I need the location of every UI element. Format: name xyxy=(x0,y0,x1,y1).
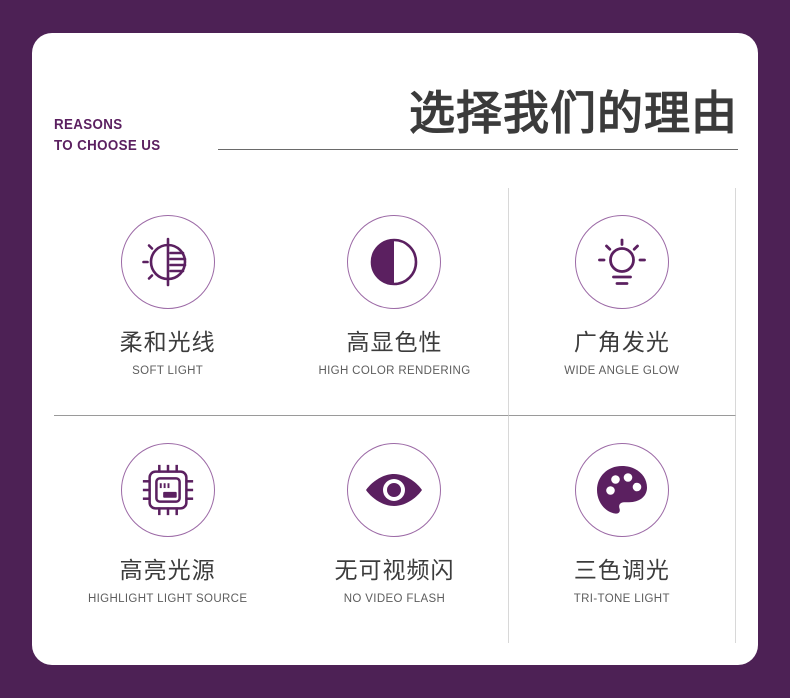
feature-label-en: HIGH COLOR RENDERING xyxy=(318,365,470,377)
feature-label-en: HIGHLIGHT LIGHT SOURCE xyxy=(88,593,247,605)
header: REASONS TO CHOOSE US 选择我们的理由 xyxy=(32,33,758,178)
feature-label-cn: 无可视频闪 xyxy=(334,559,454,584)
feature-label-cn: 广角发光 xyxy=(574,331,670,356)
eye-icon xyxy=(347,443,441,537)
soft-light-icon xyxy=(121,215,215,309)
feature-cell-soft-light: 柔和光线 SOFT LIGHT xyxy=(54,188,281,416)
feature-grid: 柔和光线 SOFT LIGHT 高显色性 HIGH COLOR RENDERIN… xyxy=(54,188,736,643)
feature-cell-high-color-rendering: 高显色性 HIGH COLOR RENDERING xyxy=(281,188,508,416)
feature-label-en: TRI-TONE LIGHT xyxy=(574,593,670,605)
content-card: REASONS TO CHOOSE US 选择我们的理由 xyxy=(32,33,758,665)
eyebrow-line-2: TO CHOOSE US xyxy=(54,136,160,157)
feature-label-en: WIDE ANGLE GLOW xyxy=(564,365,679,377)
poster-root: REASONS TO CHOOSE US 选择我们的理由 xyxy=(0,0,790,698)
page-title: 选择我们的理由 xyxy=(218,88,738,140)
feature-label-cn: 柔和光线 xyxy=(120,331,216,356)
feature-label-cn: 高亮光源 xyxy=(120,559,216,584)
palette-icon xyxy=(575,443,669,537)
feature-cell-tri-tone-light: 三色调光 TRI-TONE LIGHT xyxy=(509,416,736,644)
feature-label-cn: 高显色性 xyxy=(346,331,442,356)
chip-icon xyxy=(121,443,215,537)
header-eyebrow: REASONS TO CHOOSE US xyxy=(54,115,160,157)
feature-cell-highlight-light-source: 高亮光源 HIGHLIGHT LIGHT SOURCE xyxy=(54,416,281,644)
header-title-block: 选择我们的理由 xyxy=(218,88,738,150)
color-rendering-half-circle-icon xyxy=(347,215,441,309)
feature-cell-wide-angle-glow: 广角发光 WIDE ANGLE GLOW xyxy=(509,188,736,416)
feature-label-en: SOFT LIGHT xyxy=(132,365,203,377)
feature-cell-no-video-flash: 无可视频闪 NO VIDEO FLASH xyxy=(281,416,508,644)
eyebrow-line-1: REASONS xyxy=(54,117,123,133)
feature-label-cn: 三色调光 xyxy=(574,559,670,584)
title-underline xyxy=(218,149,738,150)
glowing-bulb-icon xyxy=(575,215,669,309)
feature-label-en: NO VIDEO FLASH xyxy=(344,593,445,605)
